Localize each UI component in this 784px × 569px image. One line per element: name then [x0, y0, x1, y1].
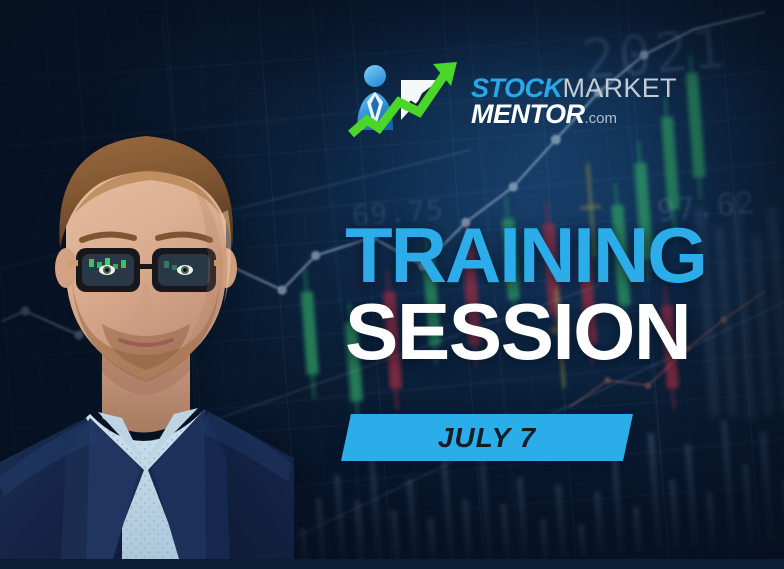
logo-word-mentor: MENTOR [471, 99, 585, 129]
headline-block: TRAINING SESSION [345, 222, 745, 367]
logo-word-com: .com [585, 110, 618, 127]
date-banner: JULY 7 [341, 414, 633, 461]
brand-logo[interactable]: STOCKMARKET MENTOR.com [345, 58, 617, 140]
bottom-strip [0, 559, 784, 569]
headline-line-2: SESSION [345, 297, 745, 367]
promo-banner: 2021 97.62 69.75 [0, 0, 784, 569]
businessman-chart-arrow-logo-icon [345, 58, 465, 140]
presenter-portrait [0, 118, 294, 569]
headline-line-1: TRAINING [345, 222, 745, 289]
date-banner-label: JULY 7 [438, 422, 536, 454]
brand-wordmark: STOCKMARKET MENTOR.com [471, 71, 677, 128]
